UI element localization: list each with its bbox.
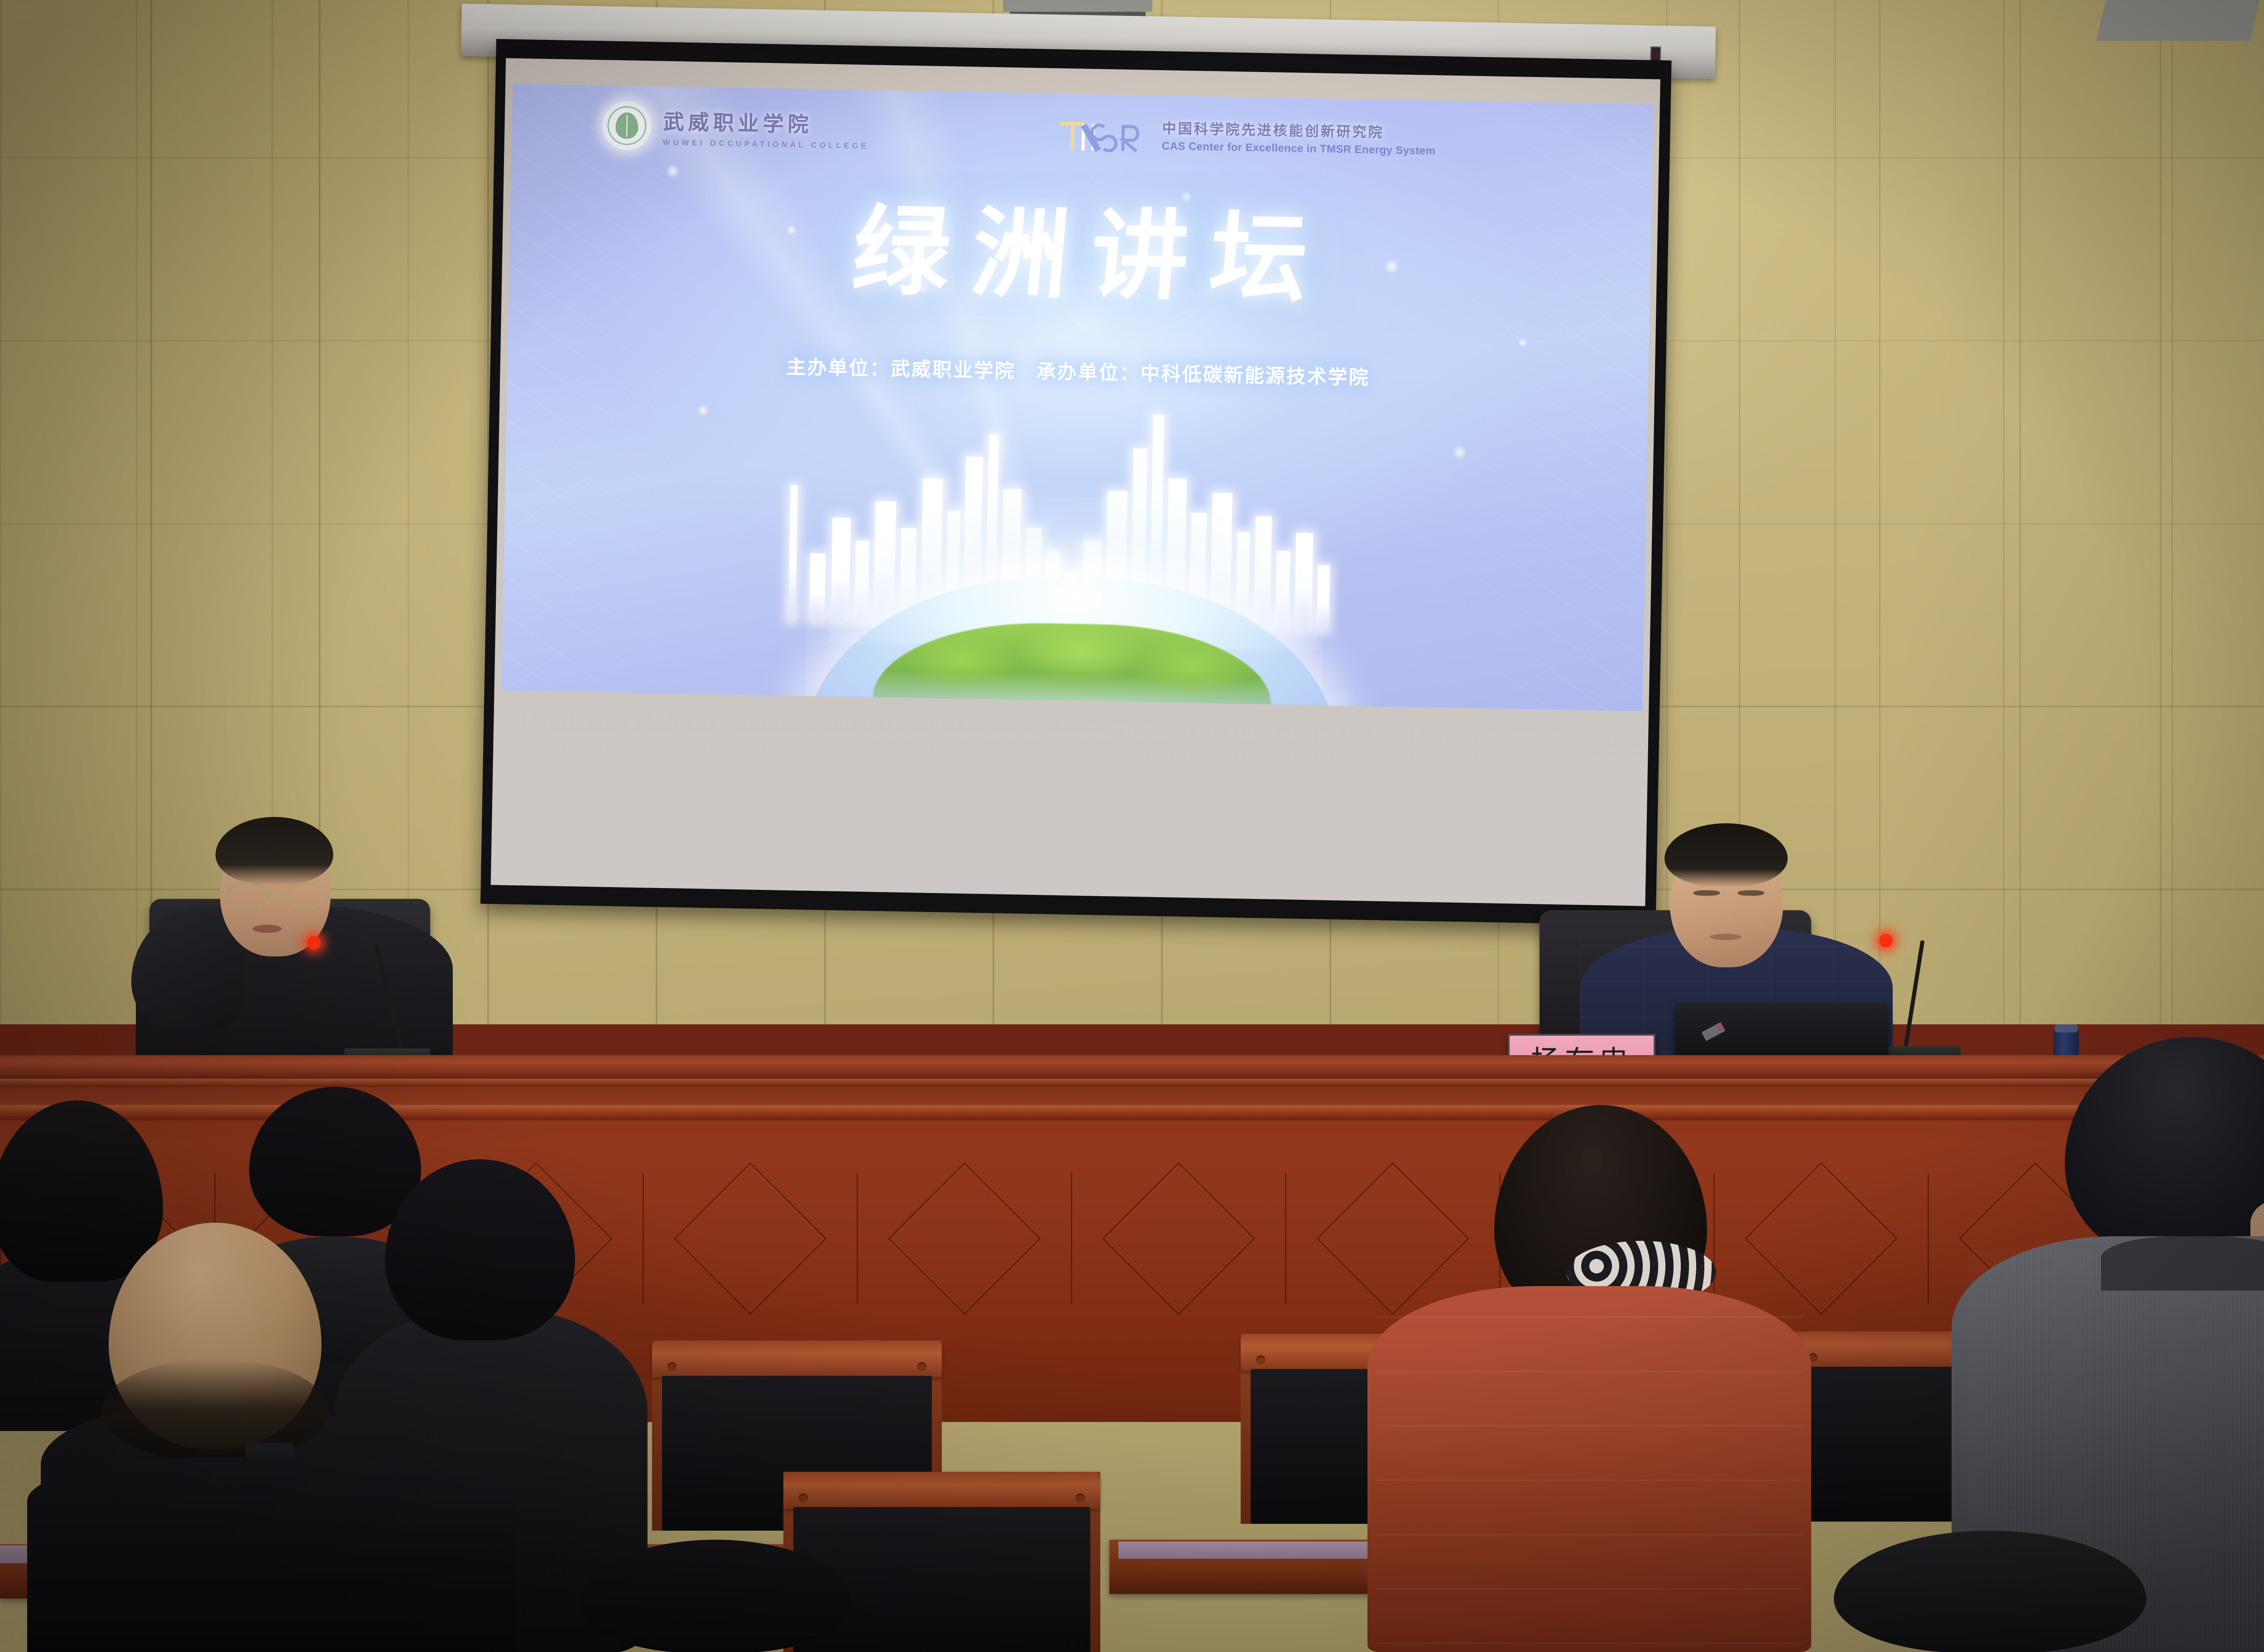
diamond-panel [1071, 1173, 1285, 1304]
laptop-brand-logo-icon [1702, 1022, 1726, 1041]
tmsr-name-cn: 中国科学院先进核能创新研究院 [1162, 116, 1436, 142]
leaf-icon [615, 112, 638, 139]
city-skyline-artwork [719, 441, 1430, 707]
attendee-hair [385, 1159, 575, 1340]
ceiling-plate-center [1003, 0, 1152, 12]
tmsr-logo: 中国科学院先进核能创新研究院 CAS Center for Excellence… [1055, 111, 1436, 161]
presentation-slide: 武威职业学院 WUWEI OCCUPATIONAL COLLEGE [502, 84, 1654, 711]
wuwei-college-name-en: WUWEI OCCUPATIONAL COLLEGE [663, 138, 869, 151]
attendee-woman-red-puffer [1367, 1105, 1820, 1652]
diamond-panel [857, 1173, 1071, 1304]
attendee-puffer-seams [1377, 1300, 1802, 1644]
wuwei-college-logo: 武威职业学院 WUWEI OCCUPATIONAL COLLEGE [602, 101, 870, 154]
speaker-right-hair [1664, 823, 1788, 887]
head-table-top [0, 1055, 2264, 1081]
diamond-panel [643, 1173, 857, 1304]
wuwei-college-emblem-icon [602, 101, 652, 150]
speaker-right-mouth [1710, 934, 1741, 940]
attendee-hair [580, 1540, 851, 1652]
attendee-collar [2101, 1236, 2264, 1291]
attendee-hair [2065, 1037, 2264, 1263]
head-table-rail [0, 1079, 2264, 1087]
speaker-right-eye-right [1738, 890, 1764, 896]
wuwei-college-name-cn: 武威职业学院 [663, 106, 869, 139]
attendee-hair [1834, 1531, 2146, 1652]
thermos-cap [2055, 1024, 2077, 1032]
tmsr-mark-icon [1055, 111, 1151, 156]
attendee-front-dark-head [580, 1540, 860, 1652]
speaker-left-glasses-icon [226, 882, 326, 906]
projector-screen-surface: 武威职业学院 WUWEI OCCUPATIONAL COLLEGE [491, 58, 1660, 906]
microphone-led-left [307, 936, 321, 950]
speaker-left-mouth [253, 925, 282, 933]
attendee-jacket [27, 1458, 516, 1652]
speaker-right-eye-left [1693, 890, 1720, 896]
attendee-foreground-right [1834, 1531, 2151, 1652]
projector-screen-frame: 武威职业学院 WUWEI OCCUPATIONAL COLLEGE [480, 39, 1672, 925]
microphone-led-right [1879, 934, 1893, 947]
speaker-left-hair [216, 817, 333, 885]
attendee-foreground-left [27, 1458, 525, 1652]
ceiling-beam-right [2096, 0, 2260, 41]
conference-hall-photo: 武威职业学院 WUWEI OCCUPATIONAL COLLEGE [0, 0, 2264, 1652]
tmsr-name-en: CAS Center for Excellence in TMSR Energy… [1162, 139, 1436, 157]
